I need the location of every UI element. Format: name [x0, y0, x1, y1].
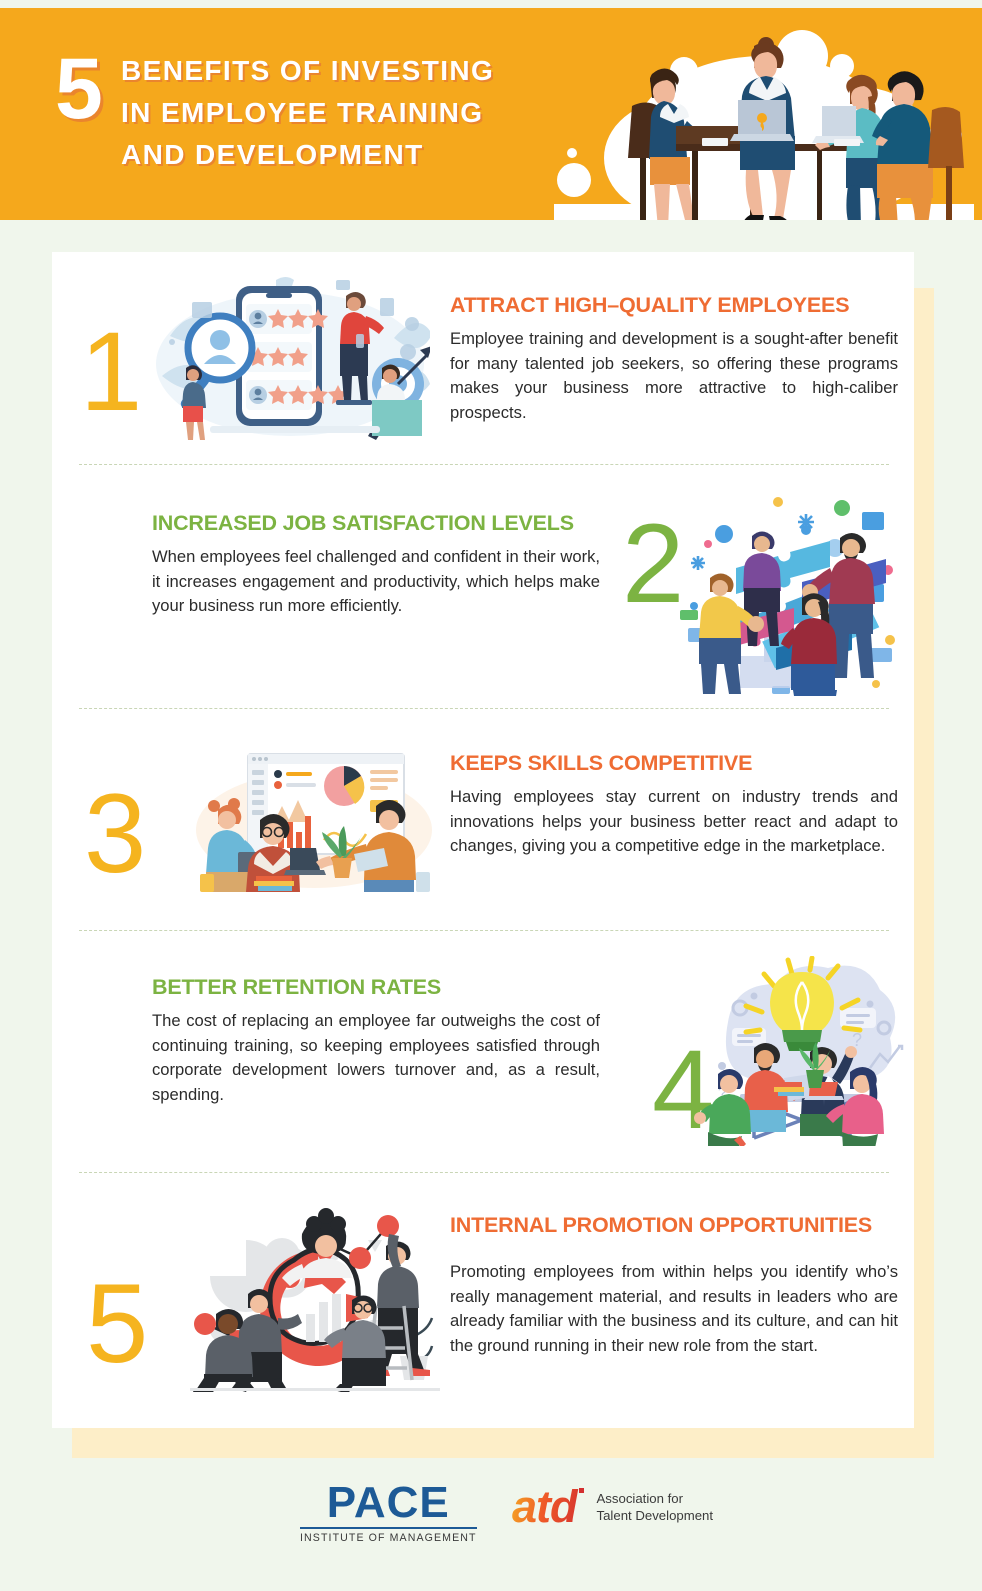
- benefit-row-3: 3: [52, 730, 914, 930]
- benefit-row-1: 1: [52, 270, 914, 470]
- benefit-heading-4: BETTER RETENTION RATES: [152, 974, 600, 1000]
- benefit-text-5: INTERNAL PROMOTION OPPORTUNITIES Promoti…: [450, 1212, 898, 1358]
- benefit-text-2: INCREASED JOB SATISFACTION LEVELS When e…: [152, 510, 600, 619]
- atd-wordmark: atd: [512, 1484, 583, 1530]
- benefit-number-3: 3: [84, 778, 146, 890]
- benefit-text-1: ATTRACT HIGH–QUALITY EMPLOYEES Employee …: [450, 292, 898, 425]
- benefit-illustration-4: ? ?: [692, 956, 912, 1146]
- header-title-line-3: AND DEVELOPMENT: [121, 134, 555, 176]
- header-title-line-2: IN EMPLOYEE TRAINING: [121, 92, 555, 134]
- pace-logo: PACE INSTITUTE OF MANAGEMENT: [300, 1480, 477, 1544]
- footer: PACE INSTITUTE OF MANAGEMENT atd Associa…: [0, 1470, 982, 1591]
- benefit-row-4: BETTER RETENTION RATES The cost of repla…: [52, 952, 914, 1167]
- divider-3: [79, 930, 889, 931]
- benefits-card: 1: [52, 252, 914, 1428]
- benefit-number-1: 1: [80, 316, 142, 428]
- benefit-body-4: The cost of replacing an employee far ou…: [152, 1009, 600, 1107]
- header-title-block: 5 BENEFITS OF INVESTING IN EMPLOYEE TRAI…: [55, 50, 555, 176]
- benefit-illustration-2: [680, 488, 900, 696]
- benefit-number-5: 5: [86, 1268, 148, 1380]
- header-big-number: 5: [55, 46, 103, 132]
- benefit-row-5: 5: [52, 1194, 914, 1419]
- benefit-body-2: When employees feel challenged and confi…: [152, 545, 600, 619]
- atd-wordmark-text: atd: [512, 1481, 577, 1532]
- benefit-illustration-1: [150, 276, 430, 441]
- benefit-illustration-5: [190, 1202, 440, 1392]
- atd-tagline-line-2: Talent Development: [597, 1507, 714, 1524]
- pace-tagline: INSTITUTE OF MANAGEMENT: [300, 1527, 477, 1544]
- benefit-body-3: Having employees stay current on industr…: [450, 785, 898, 859]
- benefit-heading-3: KEEPS SKILLS COMPETITIVE: [450, 750, 898, 776]
- atd-logo: atd Association for Talent Development: [512, 1484, 713, 1530]
- header-title-line-1: BENEFITS OF INVESTING: [121, 50, 555, 92]
- benefit-heading-5: INTERNAL PROMOTION OPPORTUNITIES: [450, 1212, 898, 1238]
- atd-tagline-line-1: Association for: [597, 1490, 714, 1507]
- benefit-illustration-3: [194, 744, 434, 892]
- benefit-text-3: KEEPS SKILLS COMPETITIVE Having employee…: [450, 750, 898, 859]
- pace-wordmark: PACE: [300, 1480, 477, 1526]
- benefit-body-5: Promoting employees from within helps yo…: [450, 1260, 898, 1358]
- header-banner: 5 BENEFITS OF INVESTING IN EMPLOYEE TRAI…: [0, 8, 982, 220]
- benefit-heading-2: INCREASED JOB SATISFACTION LEVELS: [152, 510, 600, 536]
- benefit-heading-1: ATTRACT HIGH–QUALITY EMPLOYEES: [450, 292, 898, 318]
- benefit-body-1: Employee training and development is a s…: [450, 327, 898, 425]
- header-illustration: [554, 8, 974, 220]
- benefit-number-2: 2: [622, 508, 684, 620]
- divider-4: [79, 1172, 889, 1173]
- benefit-text-4: BETTER RETENTION RATES The cost of repla…: [152, 974, 600, 1107]
- benefit-row-2: INCREASED JOB SATISFACTION LEVELS When e…: [52, 488, 914, 700]
- divider-2: [79, 708, 889, 709]
- atd-trademark-icon: [579, 1488, 584, 1493]
- atd-tagline: Association for Talent Development: [597, 1490, 714, 1524]
- divider-1: [79, 464, 889, 465]
